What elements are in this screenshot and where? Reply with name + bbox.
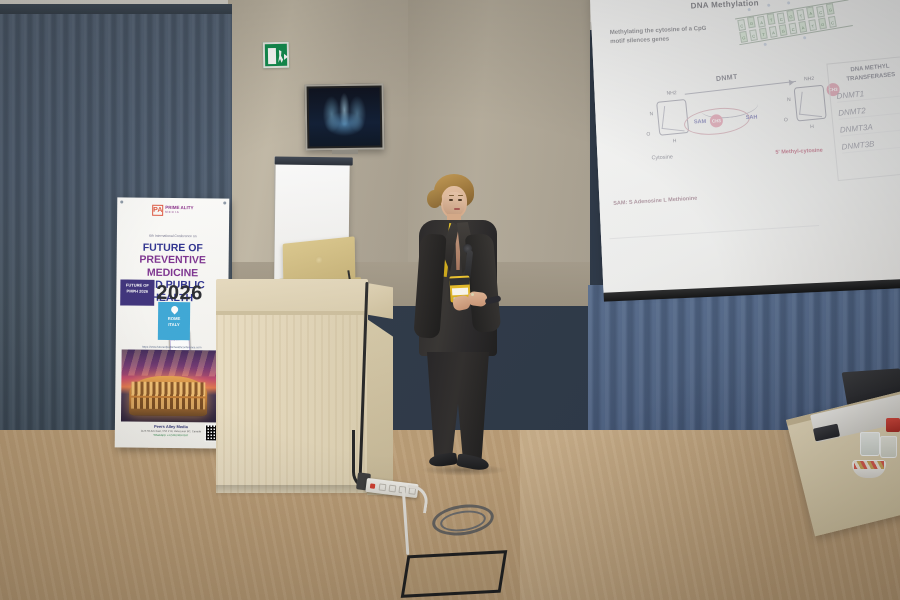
slide-subtitle: Methylating the cytosine of a CpG motif …: [610, 24, 721, 48]
atom-n-right: N: [787, 97, 791, 103]
legend-sam-text: SAM: S Adenosine L Methionine: [613, 196, 697, 207]
power-switch[interactable]: [370, 483, 376, 489]
laptop-logo-icon: [315, 256, 323, 265]
curtain-rod: [0, 4, 232, 14]
atom-n-left: N: [649, 111, 653, 117]
label-sah: SAH: [746, 115, 758, 122]
wall-mounted-monitor: [305, 83, 385, 150]
atom-h-right: H: [810, 124, 814, 130]
atom-o-right: O: [784, 117, 788, 123]
colosseum-arches-lower: [131, 398, 205, 410]
logo-sub: MEDIA: [165, 211, 193, 215]
presenter-eye: [449, 199, 453, 201]
atom-o-left: O: [646, 131, 650, 137]
label-sam: SAM: [694, 119, 706, 126]
banner-title-line1: FUTURE OF: [121, 241, 225, 254]
label-dnmt-enzyme: DNMT: [716, 74, 738, 83]
red-object: [886, 418, 900, 432]
presentation-slide: DNA Methylation Methylating the cytosine…: [590, 0, 900, 294]
banner-grommet: [120, 200, 123, 203]
banner-grommet: [223, 202, 226, 205]
water-glass-2: [880, 436, 897, 458]
atom-amine-left: NH2: [666, 90, 676, 96]
conference-room-photo: DNA Methylation Methylating the cytosine…: [0, 0, 900, 600]
label-methyl-cytosine: 5' Methyl-cytosine: [775, 148, 823, 156]
presenter-brow: [458, 195, 463, 196]
presenter-brow: [449, 195, 454, 196]
podium-front-panel: [216, 315, 368, 493]
presenter-ring: [471, 293, 474, 296]
atom-h-left: H: [673, 138, 677, 144]
sponsor-row: SILVER SPONSOR XOI methodology: [126, 222, 220, 223]
logo-text: PRIME ALITY MEDIA: [165, 206, 193, 215]
power-socket: [389, 485, 397, 493]
podium-top-surface: [216, 279, 368, 313]
presenter: [405, 168, 525, 498]
presenter-hair-bun: [427, 190, 442, 208]
colosseum-photo: [121, 349, 222, 422]
dnmt-list-panel: DNA METHYL TRANSFERASES DNMT1 DNMT2 DNMT…: [826, 55, 900, 181]
presenter-eye: [458, 199, 462, 201]
banner-kicker: 6th International Conference on: [117, 233, 229, 238]
presenter-mouth: [454, 208, 460, 210]
presenter-trousers: [427, 352, 489, 460]
banner-logo: PA PRIME ALITY MEDIA: [152, 204, 196, 216]
reaction-arrow: [685, 81, 796, 95]
label-cytosine: Cytosine: [651, 154, 673, 161]
monitor-screen-content: [309, 88, 381, 147]
exit-door-shape: [268, 48, 276, 64]
banner-country: ITALY: [158, 322, 190, 329]
flipchart-header-bar: [275, 157, 353, 166]
badge-header: [449, 277, 469, 285]
exit-arrow-shape: [284, 54, 291, 60]
colosseum-arches-upper: [131, 382, 205, 397]
floor-outlet-box: [401, 550, 508, 598]
dnmt-item-1: DNMT1: [836, 85, 900, 103]
slide-legend: SAM: S Adenosine L Methionine: [607, 182, 819, 239]
exit-running-man-shape: [278, 50, 283, 63]
podium-side-top: [367, 283, 393, 319]
emergency-exit-icon: [263, 42, 289, 68]
podium-wood-grain: [216, 315, 368, 493]
badge-name-strip: [452, 288, 468, 296]
logo-mark-icon: PA: [152, 204, 163, 215]
banner-year-chip: FUTURE OF PMPH 2026: [120, 279, 154, 305]
water-glass-1: [860, 432, 880, 456]
dnmt-item-2: DNMT2: [838, 102, 900, 120]
dnmt-item-4: DNMT3B: [841, 136, 900, 154]
candy-contents: [854, 461, 884, 469]
power-socket: [379, 483, 387, 491]
dnmt-item-3: DNMT3A: [839, 119, 900, 137]
banner-title-line2: PREVENTIVE MEDICINE: [120, 254, 224, 280]
atom-amine-right: NH2: [804, 76, 814, 82]
conference-banner: PA PRIME ALITY MEDIA SILVER SPONSOR XOI …: [115, 197, 230, 448]
monitor-shelf: [332, 150, 358, 154]
projection-screen: DNA Methylation Methylating the cytosine…: [590, 0, 900, 294]
sunset-sky: [121, 349, 221, 376]
